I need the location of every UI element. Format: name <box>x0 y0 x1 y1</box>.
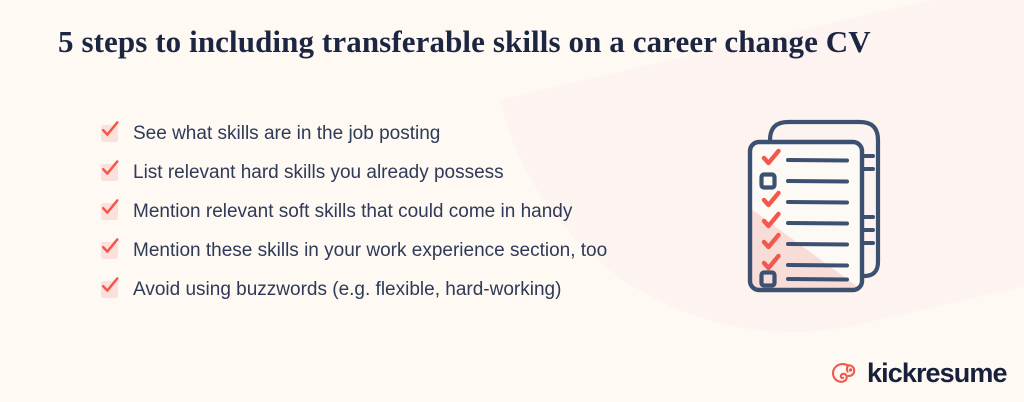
list-item-label: Mention relevant soft skills that could … <box>133 202 572 221</box>
checked-checkbox-icon <box>101 164 118 181</box>
kickresume-logo[interactable]: kickresume <box>828 356 1007 390</box>
checked-checkbox-icon <box>101 242 118 259</box>
list-item: Mention these skills in your work experi… <box>101 231 721 270</box>
list-item: Avoid using buzzwords (e.g. flexible, ha… <box>101 270 721 309</box>
page-title: 5 steps to including transferable skills… <box>58 24 871 60</box>
row-line <box>788 265 847 266</box>
row-line <box>788 244 847 245</box>
checklist-documents-illustration <box>742 112 907 302</box>
kickresume-wordmark: kickresume <box>867 360 1007 387</box>
list-item: List relevant hard skills you already po… <box>101 153 721 192</box>
list-item-label: See what skills are in the job posting <box>133 124 440 143</box>
infographic-canvas: 5 steps to including transferable skills… <box>0 0 1024 402</box>
list-item: Mention relevant soft skills that could … <box>101 192 721 231</box>
checked-checkbox-icon <box>101 203 118 220</box>
row-line <box>788 160 847 161</box>
list-item: See what skills are in the job posting <box>101 114 721 153</box>
kickresume-chameleon-icon <box>828 358 858 388</box>
checked-checkbox-icon <box>101 281 118 298</box>
steps-list: See what skills are in the job posting L… <box>101 114 721 309</box>
checked-checkbox-icon <box>101 125 118 142</box>
list-item-label: List relevant hard skills you already po… <box>133 163 504 182</box>
row-line <box>788 202 847 203</box>
row-line <box>788 279 847 280</box>
row-line <box>788 223 847 224</box>
row-line <box>788 181 847 182</box>
list-item-label: Mention these skills in your work experi… <box>133 241 607 260</box>
list-item-label: Avoid using buzzwords (e.g. flexible, ha… <box>133 280 561 299</box>
